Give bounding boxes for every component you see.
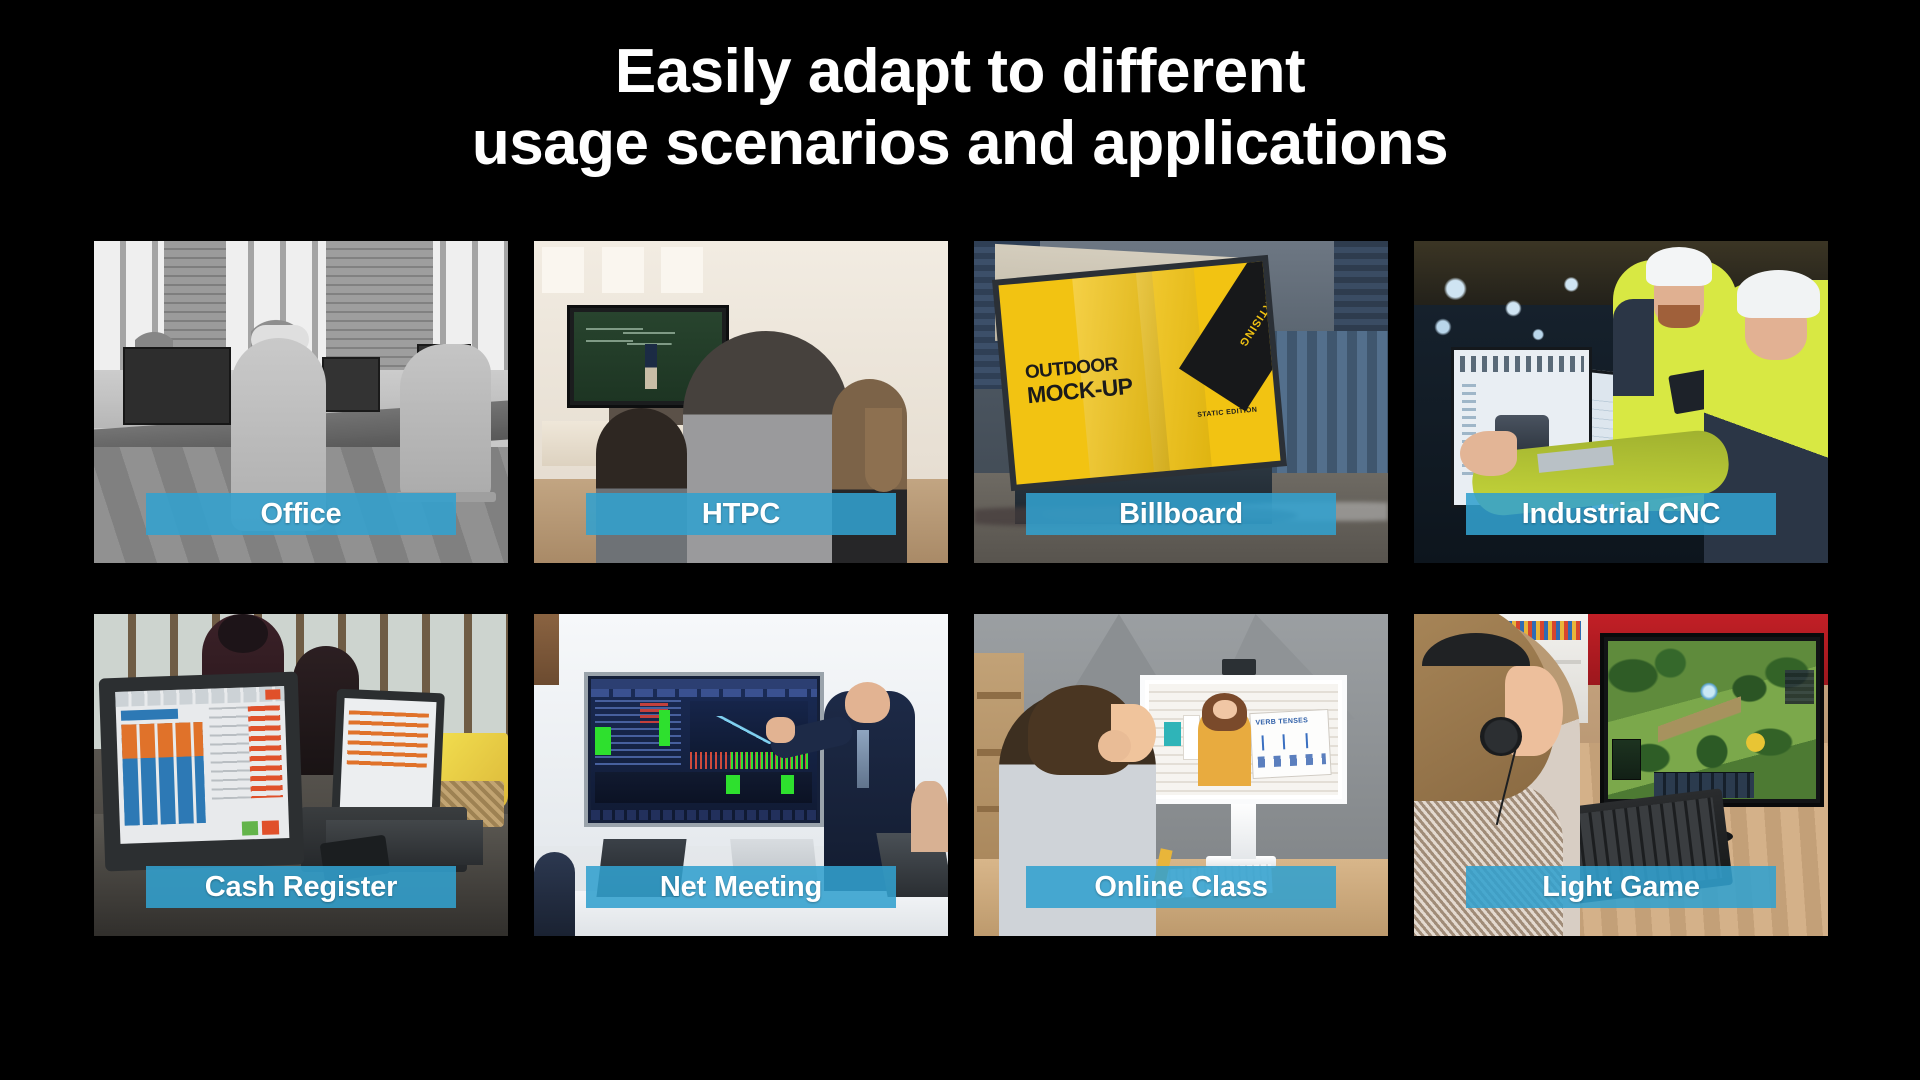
online-class-teal-box [1164, 722, 1181, 746]
cnc-hard-hat-male [1646, 247, 1712, 286]
billboard-headline: OUTDOOR MOCK-UP [1024, 354, 1133, 408]
net-meeting-tab-strip [591, 689, 817, 697]
online-class-webcam [1222, 659, 1255, 675]
scenario-card-light-game[interactable]: Light Game [1414, 614, 1828, 936]
net-meeting-gain-cell-4 [781, 775, 795, 795]
page-title-line-1: Easily adapt to different [0, 36, 1920, 108]
scenario-card-net-meeting[interactable]: Net Meeting [534, 614, 948, 936]
cnc-engineer-male-beard [1658, 305, 1699, 328]
card-caption-net-meeting: Net Meeting [586, 866, 896, 908]
net-meeting-gain-cell-1 [595, 727, 611, 755]
net-meeting-title-bar [591, 679, 817, 689]
cnc-cad-toolbar [1460, 356, 1584, 372]
card-caption-cash-register: Cash Register [146, 866, 456, 908]
cash-pos-close-button[interactable] [266, 689, 282, 700]
online-class-whiteboard: VERB TENSES [1249, 709, 1332, 780]
online-class-monitor-arm [1231, 801, 1256, 859]
net-meeting-taskbar [591, 810, 817, 820]
cash-pos-screen-secondary [339, 699, 437, 819]
light-game-scoreboard [1785, 670, 1814, 705]
card-caption-online-class: Online Class [1026, 866, 1336, 908]
shelf-board-1 [977, 692, 1021, 699]
scenario-card-industrial-cnc[interactable]: Industrial CNC [1414, 241, 1828, 563]
cnc-engineer-male-jacket-panel [1613, 299, 1654, 396]
light-game-yellow-foliage [1741, 730, 1770, 755]
page-title: Easily adapt to different usage scenario… [0, 36, 1920, 180]
net-meeting-attendee-right [911, 781, 948, 852]
htpc-teacher-figure [645, 344, 657, 389]
online-class-video-call: VERB TENSES [1149, 684, 1338, 795]
office-monitor-1 [123, 347, 231, 424]
card-caption-label: HTPC [702, 498, 780, 531]
cash-pos-confirm-button[interactable] [242, 821, 259, 835]
card-caption-industrial-cnc: Industrial CNC [1466, 493, 1776, 535]
cash-customer-1-head [218, 614, 268, 653]
card-caption-label: Industrial CNC [1522, 498, 1721, 531]
htpc-girl-ponytail [865, 408, 902, 492]
scenario-card-billboard[interactable]: OUTDOOR MOCK-UP STATIC EDITION ADVERTISI… [974, 241, 1388, 563]
light-game-minimap [1612, 739, 1641, 780]
net-meeting-wood-panel [534, 614, 559, 685]
slide-root: Easily adapt to different usage scenario… [0, 0, 1920, 1080]
office-monitor-2 [322, 357, 380, 412]
online-class-monitor[interactable]: VERB TENSES [1140, 675, 1347, 804]
htpc-boy [596, 408, 687, 563]
cash-pos-category-grid[interactable] [122, 722, 204, 758]
net-meeting-presenter-hand [766, 717, 795, 743]
card-caption-label: Cash Register [205, 871, 397, 904]
net-meeting-gain-cell-2 [659, 710, 670, 747]
cash-pos-price-column [248, 706, 283, 799]
card-caption-label: Online Class [1094, 871, 1267, 904]
htpc-wall-frames [542, 247, 732, 292]
cnc-pointing-hand [1460, 431, 1518, 476]
scenario-card-htpc[interactable]: HTPC [534, 241, 948, 563]
scenario-card-office[interactable]: Office [94, 241, 508, 563]
scenario-card-online-class[interactable]: VERB TENSES O [974, 614, 1388, 936]
card-caption-office: Office [146, 493, 456, 535]
cash-pos-panel-title [121, 709, 179, 720]
card-caption-label: Net Meeting [660, 871, 822, 904]
card-caption-label: Office [261, 498, 342, 531]
net-meeting-attendee-left [534, 852, 575, 936]
cash-pos-menu-bar [115, 686, 284, 707]
net-meeting-gain-cell-3 [726, 775, 740, 795]
cash-pos-terminal-primary[interactable] [99, 672, 304, 872]
light-game-game-screen [1608, 641, 1816, 799]
cash-pos-screen-primary[interactable] [115, 686, 289, 844]
online-class-teacher-face [1213, 700, 1238, 719]
billboard-panel: OUTDOOR MOCK-UP STATIC EDITION ADVERTISI… [999, 262, 1281, 485]
card-caption-light-game: Light Game [1466, 866, 1776, 908]
card-caption-label: Light Game [1542, 871, 1700, 904]
cnc-hard-hat-female [1737, 270, 1820, 318]
online-class-whiteboard-words [1257, 753, 1326, 768]
net-meeting-presenter-head [845, 682, 891, 724]
cash-pos-screen-2-rows [347, 711, 429, 770]
card-caption-htpc: HTPC [586, 493, 896, 535]
card-caption-billboard: Billboard [1026, 493, 1336, 535]
light-game-player-sweater [1414, 781, 1563, 936]
light-game-hero-character [1700, 682, 1719, 701]
light-game-monitor[interactable] [1600, 633, 1824, 807]
scenario-grid: Office [94, 241, 1828, 936]
office-chair-2 [400, 344, 491, 499]
online-class-whiteboard-arrows [1257, 732, 1323, 751]
scenario-card-cash-register[interactable]: Cash Register [94, 614, 508, 936]
card-caption-label: Billboard [1119, 498, 1243, 531]
online-class-whiteboard-title: VERB TENSES [1255, 717, 1308, 727]
cash-pos-cancel-button[interactable] [262, 820, 279, 834]
page-title-line-2: usage scenarios and applications [0, 108, 1920, 180]
net-meeting-presenter-tie [857, 730, 869, 788]
